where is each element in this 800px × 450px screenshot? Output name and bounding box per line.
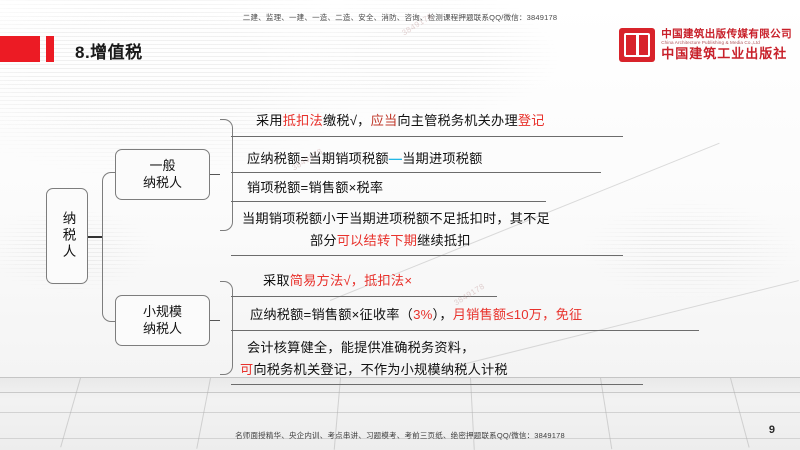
general-line-1-red1: 抵扣法	[283, 113, 323, 128]
node-small-line1: 小规模	[143, 304, 182, 319]
small-line-2-part2: ），	[433, 307, 453, 322]
small-line-3a-text: 会计核算健全，能提供准确税务资料，	[247, 340, 475, 355]
small-line-2-part1: 应纳税额=销售额×征收率（	[250, 307, 413, 322]
connector-root-stem	[88, 236, 102, 238]
node-general-line1: 一般	[149, 158, 175, 173]
node-small-scale-taxpayer: 小规模 纳税人	[115, 295, 210, 346]
page-title: 8.增值税	[75, 38, 143, 63]
small-line-3b-red1: 可	[240, 362, 253, 377]
general-line-4b: 部分可以结转下期继续抵扣	[310, 232, 471, 250]
small-line-1: 采取简易方法√，抵扣法×	[263, 272, 412, 290]
book-logo-icon	[619, 28, 655, 62]
node-small-scale-taxpayer-label: 小规模 纳税人	[143, 304, 182, 337]
title-accent-block-large	[0, 36, 40, 62]
slide-canvas: 二建、监理、一建、一造、二造、安全、消防、咨询、检测课程押题联系QQ/微信：38…	[0, 0, 800, 450]
connector-small-stem	[210, 320, 220, 321]
small-rule-3	[231, 384, 643, 385]
general-rule-1	[231, 136, 623, 137]
node-general-taxpayer: 一般 纳税人	[115, 149, 210, 200]
general-line-2-minus: —	[389, 151, 402, 166]
small-line-3b-part1: 向税务机关登记，不作为小规模纳税人计税	[253, 362, 507, 377]
node-taxpayer-root: 纳税人	[46, 188, 88, 284]
general-line-4a: 当期销项税额小于当期进项税额不足抵扣时，其不足	[242, 210, 550, 228]
general-line-1-part2: 缴税√，	[323, 113, 371, 128]
footer-promo-note: 名师面授精华、央企内训、考点串讲、习题模考、考前三页纸、绝密押题联系QQ/微信：…	[0, 430, 800, 441]
publisher-logo: 中国建筑出版传媒有限公司 China Architecture Publishi…	[619, 28, 792, 62]
general-rule-3	[231, 201, 546, 202]
logo-company-cn: 中国建筑出版传媒有限公司	[661, 29, 792, 40]
general-line-1: 采用抵扣法缴税√，应当向主管税务机关办理登记	[256, 112, 545, 130]
general-line-4a-text: 当期销项税额小于当期进项税额不足抵扣时，其不足	[242, 211, 550, 226]
small-line-3a: 会计核算健全，能提供准确税务资料，	[247, 339, 475, 357]
top-promo-note: 二建、监理、一建、一造、二造、安全、消防、咨询、检测课程押题联系QQ/微信：38…	[0, 12, 800, 23]
general-rule-2	[231, 172, 601, 173]
small-rule-1	[231, 296, 497, 297]
node-general-taxpayer-label: 一般 纳税人	[143, 158, 182, 191]
general-line-1-part1: 采用	[256, 113, 283, 128]
general-line-3: 销项税额=销售额×税率	[247, 179, 383, 197]
general-line-4b-part2: 继续抵扣	[417, 233, 471, 248]
node-taxpayer-root-label: 纳税人	[59, 211, 76, 261]
small-line-2-red1: 3%	[413, 307, 432, 322]
connector-general-stem	[210, 174, 220, 175]
general-line-4b-part1: 部分	[310, 233, 337, 248]
small-line-1-part1: 采取	[263, 273, 290, 288]
small-line-1-red1: 简易方法√，抵扣法×	[290, 273, 412, 288]
general-line-1-red3: 登记	[518, 113, 545, 128]
general-line-1-part3: 向主管税务机关办理	[397, 113, 518, 128]
small-line-2: 应纳税额=销售额×征收率（3%），月销售额≤10万，免征	[250, 306, 582, 324]
general-line-4b-red1: 可以结转下期	[337, 233, 417, 248]
logo-text-block: 中国建筑出版传媒有限公司 China Architecture Publishi…	[661, 29, 792, 60]
logo-press-cn: 中国建筑工业出版社	[661, 47, 792, 61]
general-line-2-part2: 当期进项税额	[402, 151, 482, 166]
node-general-line2: 纳税人	[143, 175, 182, 190]
connector-brace-root	[102, 172, 116, 322]
small-rule-2	[231, 330, 699, 331]
node-small-line2: 纳税人	[143, 321, 182, 336]
general-line-3-part1: 销项税额=销售额×税率	[247, 180, 383, 195]
small-line-3b: 可向税务机关登记，不作为小规模纳税人计税	[240, 361, 508, 379]
general-line-1-red2: 应当	[371, 113, 398, 128]
small-line-2-red2: 月销售额≤10万，免征	[453, 307, 583, 322]
general-rule-4	[231, 255, 623, 256]
general-line-2: 应纳税额=当期销项税额—当期进项税额	[247, 150, 483, 168]
page-number: 9	[769, 424, 775, 436]
general-line-2-part1: 应纳税额=当期销项税额	[247, 151, 389, 166]
title-accent-block-small	[46, 36, 54, 62]
